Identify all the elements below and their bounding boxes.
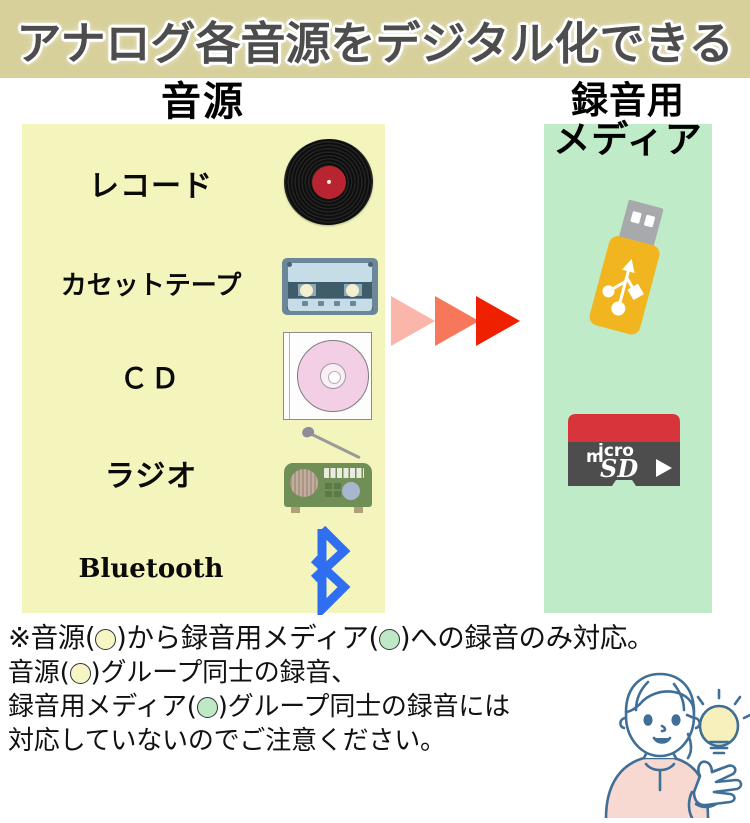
flow-arrow-2 xyxy=(435,296,479,346)
source-item-label: ラジオ xyxy=(22,451,280,495)
source-item-cd: ＣＤ xyxy=(22,328,385,426)
source-panel-title: 音源 xyxy=(108,82,298,123)
source-item-bluetooth: Bluetooth xyxy=(22,520,385,618)
usb-flash-drive-icon xyxy=(560,190,700,340)
source-color-dot xyxy=(70,663,91,684)
media-panel-title-line2: メディア xyxy=(520,121,736,159)
flow-arrows xyxy=(390,296,530,348)
source-item-label: ＣＤ xyxy=(22,357,280,397)
media-color-dot xyxy=(197,697,218,718)
source-item-cassette: カセットテープ xyxy=(22,234,385,332)
source-item-record: レコード xyxy=(22,134,385,232)
media-color-dot xyxy=(379,629,400,650)
bluetooth-icon xyxy=(280,521,380,617)
vinyl-record-icon xyxy=(280,135,380,231)
header-banner: アナログ各音源をデジタル化できる xyxy=(0,0,750,78)
flow-arrow-3 xyxy=(476,296,520,346)
source-item-label: カセットテープ xyxy=(22,265,280,302)
person-with-lightbulb-illustration xyxy=(588,668,750,818)
microsd-card-icon: m icro SD xyxy=(560,412,692,510)
media-panel-title-line1: 録音用 xyxy=(571,79,685,122)
flow-arrow-1 xyxy=(391,296,435,346)
svg-text:SD: SD xyxy=(600,454,638,483)
source-item-label: レコード xyxy=(22,161,280,205)
cd-disc-icon xyxy=(280,329,380,425)
source-item-label: Bluetooth xyxy=(22,554,280,584)
page-title: アナログ各音源をデジタル化できる xyxy=(0,0,750,78)
source-color-dot xyxy=(95,629,116,650)
cassette-tape-icon xyxy=(280,235,380,331)
media-panel-title: 録音用 メディア xyxy=(520,82,736,158)
footnote-line-1: ※音源()から録音用メディア()への録音のみ対応。 xyxy=(8,620,748,656)
radio-icon xyxy=(280,425,380,521)
source-item-radio: ラジオ xyxy=(22,424,385,522)
